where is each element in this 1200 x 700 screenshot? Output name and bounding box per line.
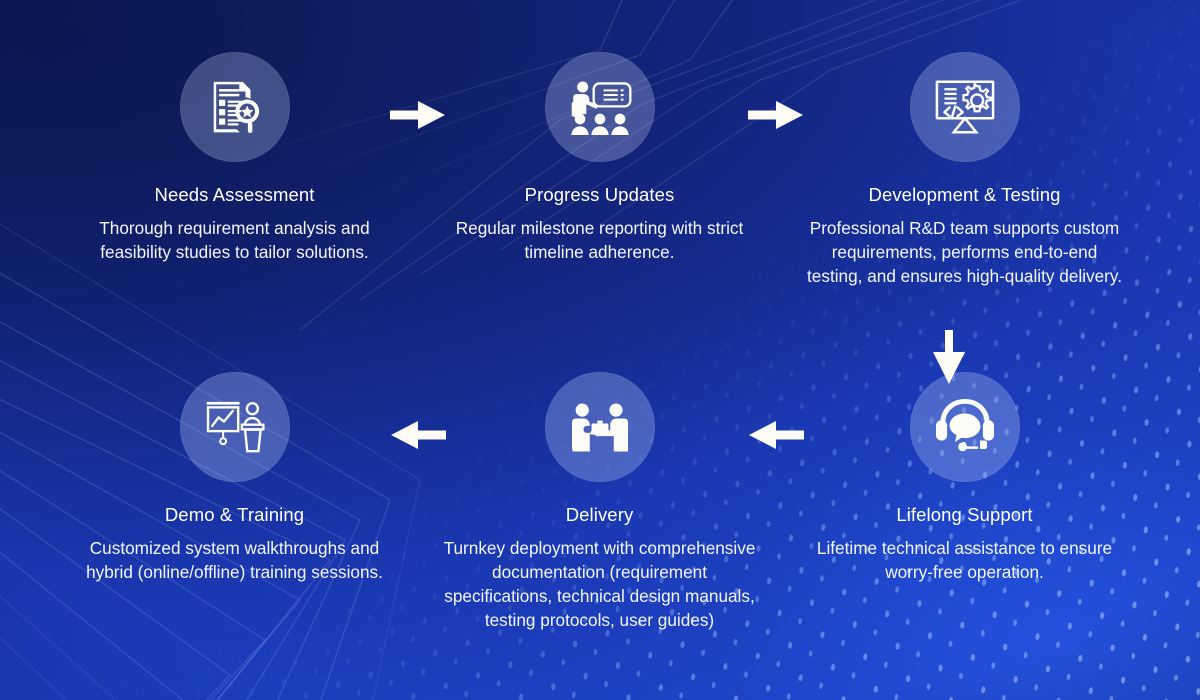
arrow-needs-to-progress — [390, 98, 446, 132]
step-title: Demo & Training — [165, 504, 304, 526]
process-row-bottom: Demo & Training Customized system walkth… — [0, 372, 1200, 632]
projector-podium-icon — [180, 372, 290, 482]
handover-package-icon — [545, 372, 655, 482]
headset-support-icon — [910, 372, 1020, 482]
step-description: Lifetime technical assistance to ensure … — [815, 536, 1115, 584]
step-card-needs-assessment[interactable]: Needs Assessment Thorough requirement an… — [52, 52, 417, 288]
step-description: Customized system walkthroughs and hybri… — [85, 536, 385, 584]
step-card-development-testing[interactable]: Development & Testing Professional R&D t… — [782, 52, 1147, 288]
step-title: Delivery — [566, 504, 634, 526]
presenter-audience-icon — [545, 52, 655, 162]
arrow-support-to-delivery — [748, 418, 804, 452]
step-title: Lifelong Support — [896, 504, 1032, 526]
step-description: Thorough requirement analysis and feasib… — [85, 216, 385, 264]
arrow-progress-to-development — [748, 98, 804, 132]
step-card-demo-training[interactable]: Demo & Training Customized system walkth… — [52, 372, 417, 632]
process-row-top: Needs Assessment Thorough requirement an… — [0, 52, 1200, 288]
step-description: Regular milestone reporting with strict … — [450, 216, 750, 264]
step-title: Progress Updates — [525, 184, 675, 206]
document-search-star-icon — [180, 52, 290, 162]
step-card-delivery[interactable]: Delivery Turnkey deployment with compreh… — [417, 372, 782, 632]
step-title: Needs Assessment — [155, 184, 315, 206]
step-card-progress-updates[interactable]: Progress Updates Regular milestone repor… — [417, 52, 782, 288]
step-card-lifelong-support[interactable]: Lifelong Support Lifetime technical assi… — [782, 372, 1147, 632]
monitor-code-gear-icon — [910, 52, 1020, 162]
step-title: Development & Testing — [868, 184, 1060, 206]
step-description: Professional R&D team supports custom re… — [805, 216, 1125, 288]
arrow-delivery-to-demo — [390, 418, 446, 452]
step-description: Turnkey deployment with comprehensive do… — [440, 536, 760, 632]
infographic-canvas: Needs Assessment Thorough requirement an… — [0, 0, 1200, 700]
arrow-development-to-support — [925, 330, 973, 386]
